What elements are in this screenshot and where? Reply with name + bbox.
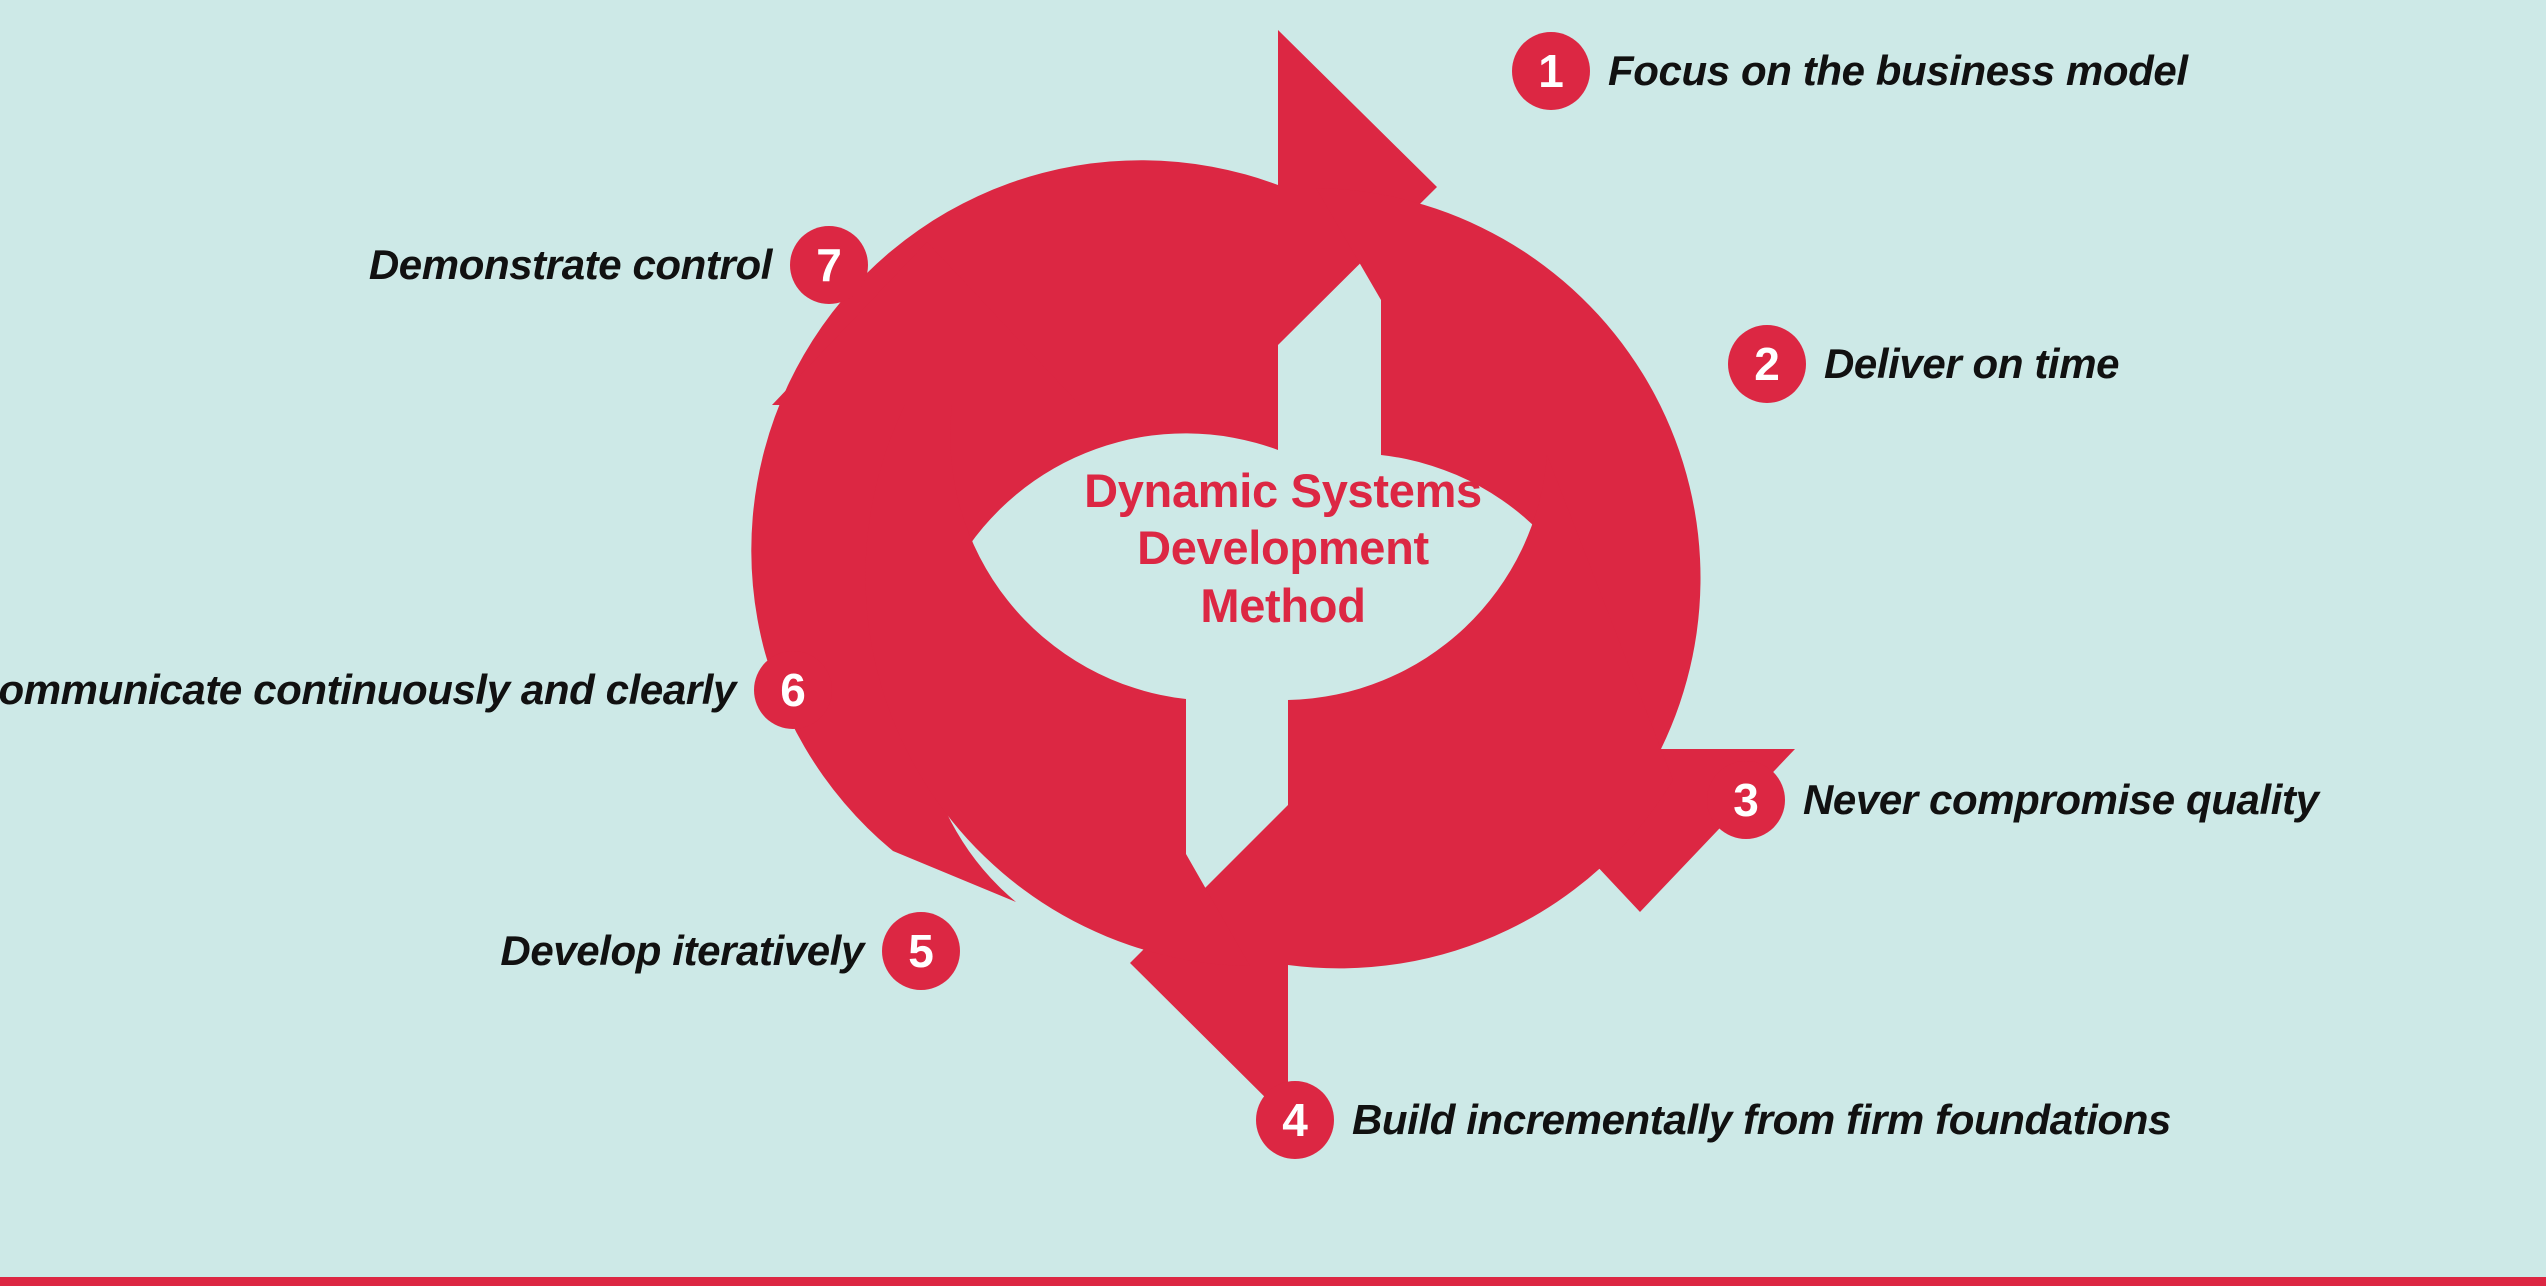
diagram-canvas: Dynamic Systems Development Method 1 Foc… bbox=[0, 0, 2546, 1286]
bottom-accent-bar bbox=[0, 1277, 2546, 1286]
principle-2-badge: 2 bbox=[1728, 325, 1806, 403]
principle-7-label: Demonstrate control bbox=[369, 241, 772, 289]
principle-3[interactable]: 3 Never compromise quality bbox=[1707, 761, 2319, 839]
principle-7-badge: 7 bbox=[790, 226, 868, 304]
principle-5[interactable]: Develop iteratively 5 bbox=[500, 912, 960, 990]
principle-3-badge: 3 bbox=[1707, 761, 1785, 839]
principle-1-label: Focus on the business model bbox=[1608, 47, 2188, 95]
principle-4-label: Build incrementally from firm foundation… bbox=[1352, 1096, 2171, 1144]
principle-5-label: Develop iteratively bbox=[500, 927, 864, 975]
principle-4-badge: 4 bbox=[1256, 1081, 1334, 1159]
principle-7[interactable]: Demonstrate control 7 bbox=[369, 226, 868, 304]
center-title: Dynamic Systems Development Method bbox=[1063, 462, 1503, 634]
principle-5-badge: 5 bbox=[882, 912, 960, 990]
principle-4[interactable]: 4 Build incrementally from firm foundati… bbox=[1256, 1081, 2171, 1159]
principle-2[interactable]: 2 Deliver on time bbox=[1728, 325, 2119, 403]
principle-6[interactable]: Communicate continuously and clearly 6 bbox=[0, 651, 832, 729]
principle-6-label: Communicate continuously and clearly bbox=[0, 666, 736, 714]
principle-6-badge: 6 bbox=[754, 651, 832, 729]
principle-3-label: Never compromise quality bbox=[1803, 776, 2319, 824]
principle-1-badge: 1 bbox=[1512, 32, 1590, 110]
principle-1[interactable]: 1 Focus on the business model bbox=[1512, 32, 2188, 110]
principle-2-label: Deliver on time bbox=[1824, 340, 2119, 388]
